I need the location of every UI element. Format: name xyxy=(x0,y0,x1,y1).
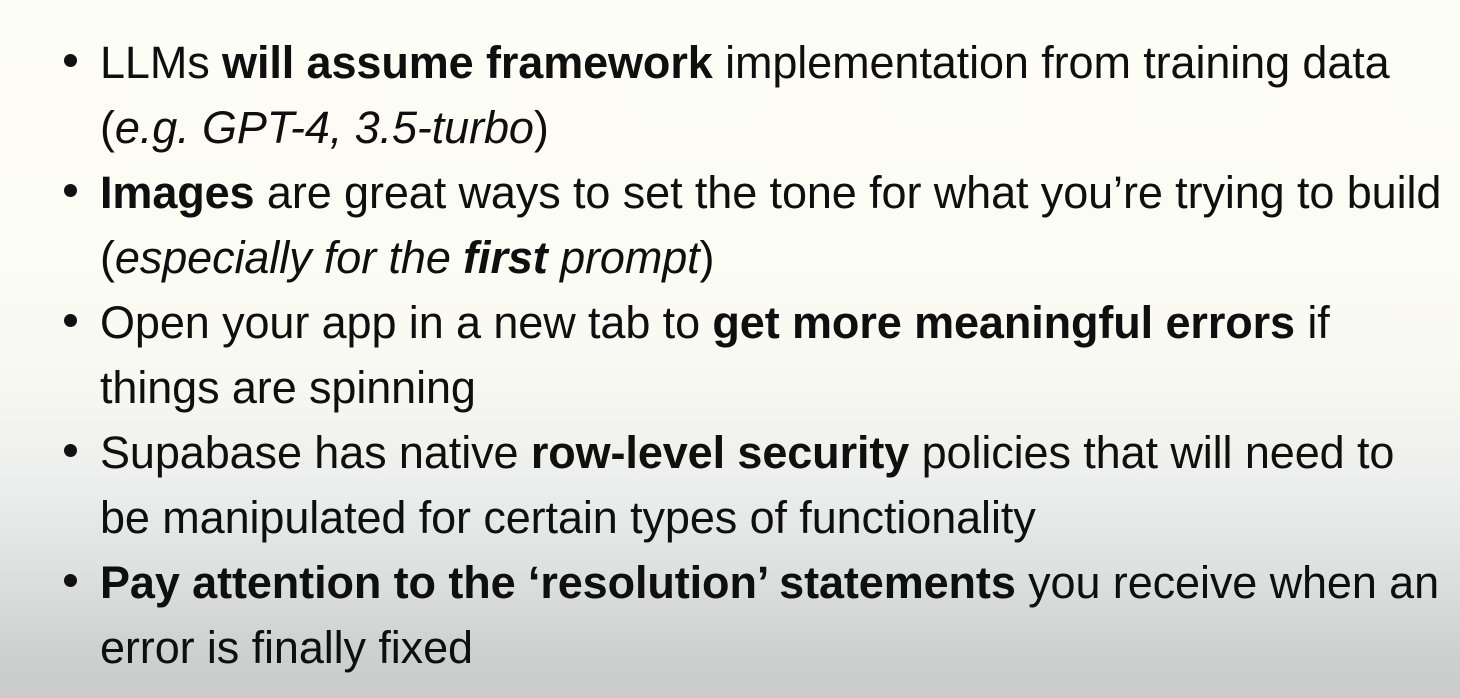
bullet-dot-icon xyxy=(64,444,77,457)
text-run-normal: ) xyxy=(700,232,715,283)
slide-canvas: LLMs will assume framework implementatio… xyxy=(0,0,1460,698)
text-run-bold-italic: first xyxy=(463,232,548,283)
bullet-item-supabase-row-level-security: Supabase has native row-level security p… xyxy=(0,420,1460,550)
text-run-bold: will assume framework xyxy=(222,37,713,88)
bullet-dot-icon xyxy=(64,184,77,197)
bullet-item-resolution-statements: Pay attention to the ‘resolution’ statem… xyxy=(0,550,1460,680)
bullet-text: Open your app in a new tab to get more m… xyxy=(100,297,1330,413)
bullet-item-images-set-tone: Images are great ways to set the tone fo… xyxy=(0,160,1460,290)
text-run-normal: Open your app in a new tab to xyxy=(100,297,712,348)
text-run-italic: especially for the xyxy=(115,232,463,283)
bullet-text: Supabase has native row-level security p… xyxy=(100,427,1394,543)
text-run-bold: get more meaningful errors xyxy=(712,297,1295,348)
bullet-dot-icon xyxy=(64,574,77,587)
text-run-normal: LLMs xyxy=(100,37,222,88)
text-run-bold: row-level security xyxy=(531,427,909,478)
bullet-list: LLMs will assume framework implementatio… xyxy=(0,30,1460,680)
bullet-item-llms-assume-framework: LLMs will assume framework implementatio… xyxy=(0,30,1460,160)
bullet-text: Images are great ways to set the tone fo… xyxy=(100,167,1441,283)
text-run-normal: Supabase has native xyxy=(100,427,531,478)
text-run-bold: Pay attention to the ‘resolution’ statem… xyxy=(100,557,1016,608)
text-run-normal: ) xyxy=(534,102,549,153)
bullet-text: Pay attention to the ‘resolution’ statem… xyxy=(100,557,1439,673)
bullet-text: LLMs will assume framework implementatio… xyxy=(100,37,1390,153)
text-run-italic: e.g. GPT-4, 3.5-turbo xyxy=(115,102,534,153)
bullet-dot-icon xyxy=(64,54,77,67)
text-run-bold: Images xyxy=(100,167,254,218)
text-run-italic: prompt xyxy=(548,232,700,283)
bullet-item-open-app-new-tab: Open your app in a new tab to get more m… xyxy=(0,290,1460,420)
bullet-dot-icon xyxy=(64,314,77,327)
